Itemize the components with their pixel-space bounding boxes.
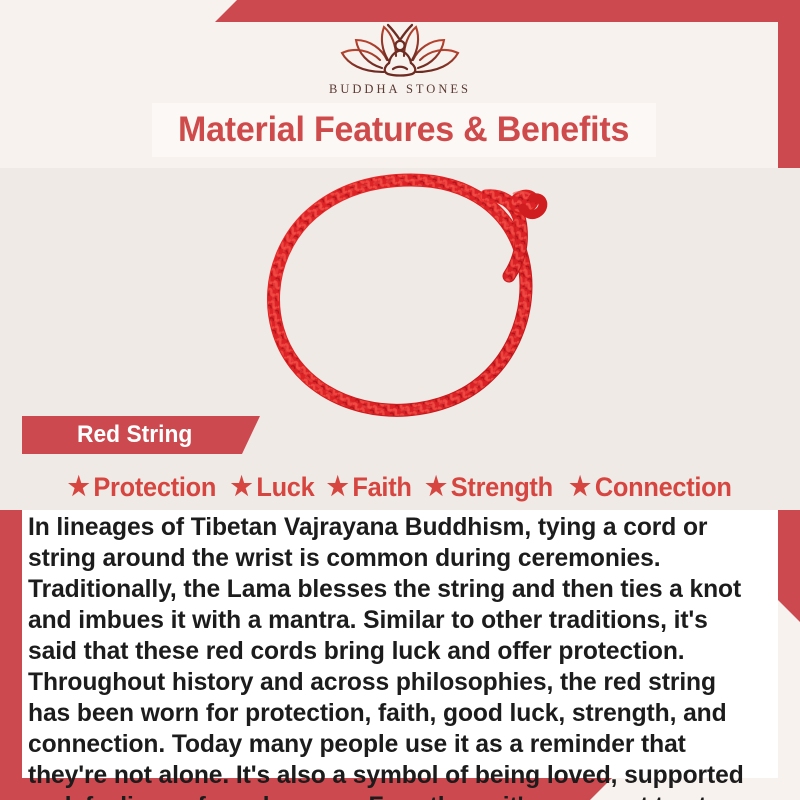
section-banner: Red String — [22, 416, 260, 454]
infographic-page: BUDDHA STONES Material Features & Benefi… — [0, 0, 800, 800]
benefit-label: Luck — [256, 472, 314, 503]
brand-wordmark: BUDDHA STONES — [329, 82, 471, 97]
page-title: Material Features & Benefits — [178, 110, 629, 150]
star-icon: ★ — [327, 473, 349, 499]
lotus-meditation-icon — [326, 20, 474, 80]
benefit-item-protection: ★ Protection — [68, 472, 216, 503]
benefits-row: ★ Protection ★ Luck ★ Faith ★ Strength ★… — [22, 466, 778, 508]
frame-bar-top — [215, 0, 800, 22]
benefit-item-luck: ★ Luck — [231, 472, 315, 503]
benefit-label: Strength — [451, 472, 553, 503]
star-icon: ★ — [569, 473, 591, 499]
benefit-item-strength: ★ Strength — [425, 472, 553, 503]
star-icon: ★ — [68, 473, 90, 499]
red-string-bracelet-icon — [243, 168, 573, 426]
benefit-item-connection: ★ Connection — [569, 472, 731, 503]
section-banner-label: Red String — [77, 421, 192, 449]
brand-logo: BUDDHA STONES — [0, 20, 800, 100]
body-paragraph: In lineages of Tibetan Vajrayana Buddhis… — [28, 512, 759, 800]
star-icon: ★ — [425, 473, 447, 499]
title-band: Material Features & Benefits — [152, 103, 656, 157]
benefit-label: Faith — [352, 472, 411, 503]
benefit-item-faith: ★ Faith — [327, 472, 412, 503]
star-icon: ★ — [231, 473, 253, 499]
benefit-label: Connection — [595, 472, 732, 503]
benefit-label: Protection — [93, 472, 216, 503]
